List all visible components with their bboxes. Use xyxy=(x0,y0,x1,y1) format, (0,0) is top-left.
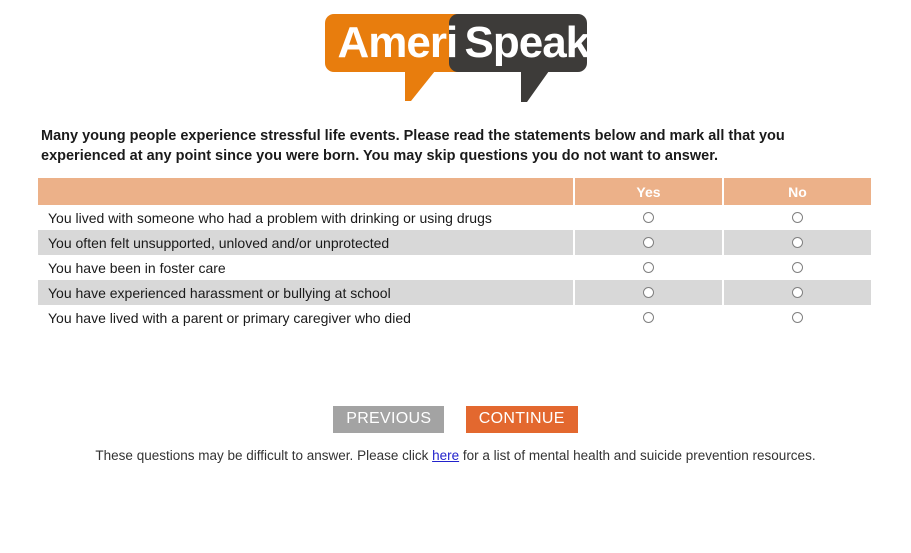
column-header-no: No xyxy=(723,178,871,205)
radio-cell-yes[interactable] xyxy=(574,230,723,255)
logo-orange-bubble-tail xyxy=(405,71,435,101)
navigation-buttons: PREVIOUS CONTINUE xyxy=(0,406,911,433)
logo-dark-bubble-tail xyxy=(521,71,549,102)
column-header-statement xyxy=(38,178,574,205)
table-row: You often felt unsupported, unloved and/… xyxy=(38,230,871,255)
column-header-yes: Yes xyxy=(574,178,723,205)
radio-cell-no[interactable] xyxy=(723,230,871,255)
radio-no-row-5[interactable] xyxy=(792,312,803,323)
logo-graphic: Ameri Speak xyxy=(325,14,587,102)
radio-yes-row-2[interactable] xyxy=(643,237,654,248)
radio-cell-no[interactable] xyxy=(723,305,871,330)
radio-cell-yes[interactable] xyxy=(574,305,723,330)
radio-no-row-2[interactable] xyxy=(792,237,803,248)
radio-cell-yes[interactable] xyxy=(574,255,723,280)
radio-cell-no[interactable] xyxy=(723,280,871,305)
table-row: You have experienced harassment or bully… xyxy=(38,280,871,305)
logo-text-ameri: Ameri xyxy=(338,19,458,67)
footer-text-after-link: for a list of mental health and suicide … xyxy=(459,448,815,463)
radio-cell-no[interactable] xyxy=(723,205,871,230)
table-row: You lived with someone who had a problem… xyxy=(38,205,871,230)
survey-matrix-table: Yes No You lived with someone who had a … xyxy=(38,178,871,330)
continue-button[interactable]: CONTINUE xyxy=(466,406,578,433)
table-row: You have been in foster care xyxy=(38,255,871,280)
footer-text-before-link: These questions may be difficult to answ… xyxy=(95,448,432,463)
radio-cell-yes[interactable] xyxy=(574,205,723,230)
radio-yes-row-5[interactable] xyxy=(643,312,654,323)
radio-yes-row-1[interactable] xyxy=(643,212,654,223)
statement-label: You have lived with a parent or primary … xyxy=(38,305,574,330)
footer-help-text: These questions may be difficult to answ… xyxy=(0,448,911,463)
table-header-row: Yes No xyxy=(38,178,871,205)
table-row: You have lived with a parent or primary … xyxy=(38,305,871,330)
brand-logo: Ameri Speak xyxy=(0,14,911,106)
statement-label: You have experienced harassment or bully… xyxy=(38,280,574,305)
radio-cell-yes[interactable] xyxy=(574,280,723,305)
radio-no-row-4[interactable] xyxy=(792,287,803,298)
radio-yes-row-3[interactable] xyxy=(643,262,654,273)
radio-no-row-3[interactable] xyxy=(792,262,803,273)
mental-health-resources-link[interactable]: here xyxy=(432,448,459,463)
previous-button[interactable]: PREVIOUS xyxy=(333,406,444,433)
question-intro-text: Many young people experience stressful l… xyxy=(41,126,831,166)
statement-label: You lived with someone who had a problem… xyxy=(38,205,574,230)
logo-text-speak: Speak xyxy=(465,19,590,67)
statement-label: You have been in foster care xyxy=(38,255,574,280)
statement-label: You often felt unsupported, unloved and/… xyxy=(38,230,574,255)
radio-yes-row-4[interactable] xyxy=(643,287,654,298)
radio-cell-no[interactable] xyxy=(723,255,871,280)
radio-no-row-1[interactable] xyxy=(792,212,803,223)
